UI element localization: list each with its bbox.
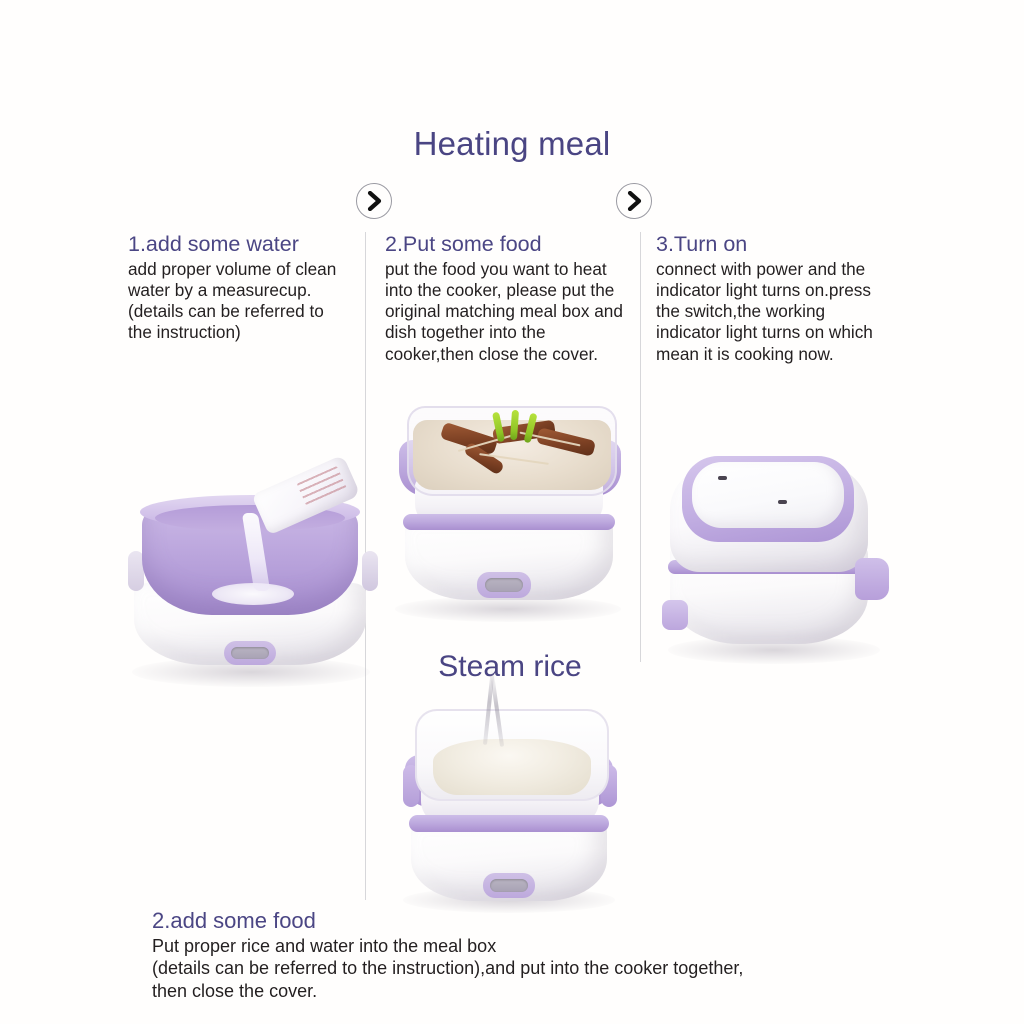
power-switch-inner — [231, 647, 268, 659]
step-1-body: add proper volume of clean water by a me… — [128, 259, 350, 344]
rice-pot — [415, 709, 609, 801]
step-2-heading: 2.Put some food — [385, 232, 628, 257]
product-image-put-food — [385, 400, 635, 630]
power-switch-inner — [490, 879, 527, 892]
chevron-right-icon-1 — [356, 183, 392, 219]
steam-step-body: Put proper rice and water into the meal … — [152, 935, 912, 1003]
product-image-add-water — [128, 465, 378, 695]
purple-band-lower — [409, 815, 609, 832]
power-switch-inner — [485, 578, 524, 592]
steam-vent — [778, 500, 787, 504]
steam-step-heading: 2.add some food — [152, 908, 912, 934]
step-3-heading: 3.Turn on — [656, 232, 888, 257]
steam-step-body-line-3: then close the cover. — [152, 981, 317, 1001]
purple-band-lower — [403, 514, 615, 530]
power-switch — [477, 572, 531, 598]
power-switch — [224, 641, 276, 665]
power-switch — [483, 873, 535, 898]
steam-step-body-line-2: (details can be referred to the instruct… — [152, 958, 743, 978]
step-3-body: connect with power and the indicator lig… — [656, 259, 888, 365]
chevron-right-icon-2 — [616, 183, 652, 219]
steam-vent — [718, 476, 727, 480]
side-latch-right — [855, 558, 889, 600]
side-latch-left — [662, 600, 688, 630]
infographic-page: Heating meal 1.add some water add proper… — [0, 0, 1024, 1024]
side-handle-right — [362, 551, 378, 591]
step-2-body: put the food you want to heat into the c… — [385, 259, 628, 365]
bottom-caption-block: 2.add some food Put proper rice and wate… — [152, 908, 912, 1003]
product-image-steam-rice — [395, 705, 625, 920]
steam-step-body-line-1: Put proper rice and water into the meal … — [152, 936, 496, 956]
step-column-2: 2.Put some food put the food you want to… — [385, 232, 628, 365]
column-divider-right — [640, 232, 641, 662]
food-tray — [407, 406, 617, 496]
page-title: Heating meal — [0, 125, 1024, 163]
cooked-rice — [433, 739, 591, 795]
step-column-1: 1.add some water add proper volume of cl… — [128, 232, 350, 344]
step-1-heading: 1.add some water — [128, 232, 350, 257]
step-column-3: 3.Turn on connect with power and the ind… — [656, 232, 888, 365]
product-image-turn-on — [660, 450, 885, 675]
lid-top-surface — [692, 462, 844, 528]
steam-rice-title: Steam rice — [385, 650, 635, 684]
measuring-cup-scale-marks — [297, 466, 348, 508]
